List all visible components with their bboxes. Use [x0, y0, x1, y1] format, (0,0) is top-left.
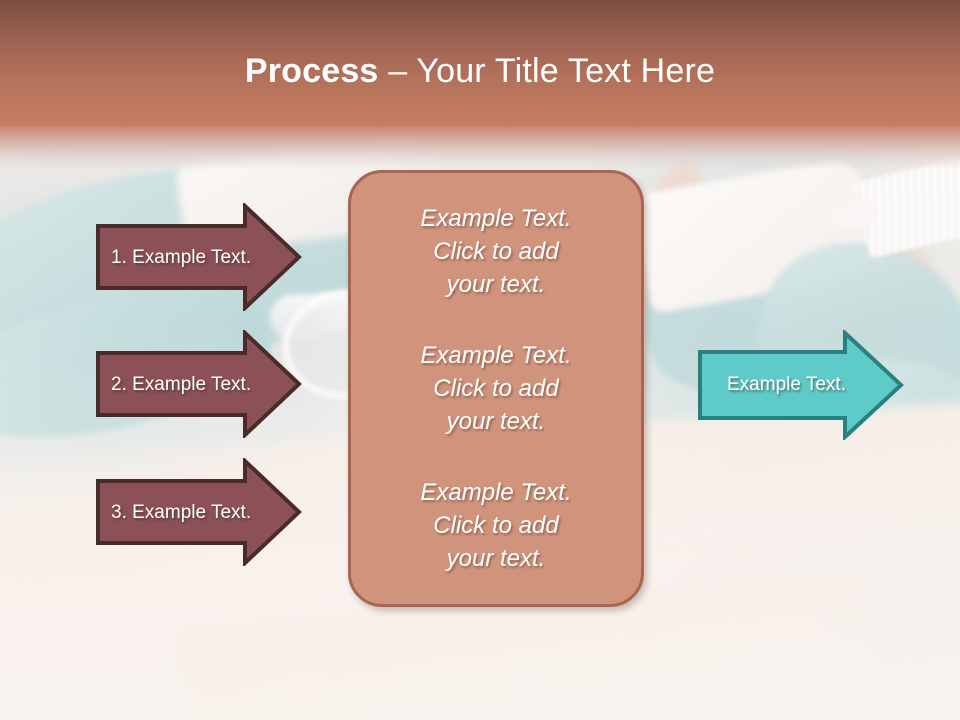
- page-title-rest: – Your Title Text Here: [379, 52, 716, 90]
- page-title: Process – Your Title Text Here: [0, 50, 960, 92]
- output-arrow-label: Example Text.: [727, 374, 846, 396]
- input-arrow-3[interactable]: 3. Example Text.: [95, 458, 303, 566]
- process-content-box[interactable]: Example Text. Click to add your text. Ex…: [348, 170, 644, 607]
- input-arrow-2[interactable]: 2. Example Text.: [95, 330, 303, 438]
- input-arrow-3-label: 3. Example Text.: [111, 502, 251, 524]
- slide-canvas: Process – Your Title Text Here 1. Exampl…: [0, 0, 960, 720]
- input-arrow-2-label: 2. Example Text.: [111, 374, 251, 396]
- process-paragraph-3: Example Text. Click to add your text.: [420, 476, 571, 575]
- input-arrow-1[interactable]: 1. Example Text.: [95, 203, 303, 311]
- output-arrow[interactable]: Example Text.: [697, 330, 905, 440]
- process-paragraph-1: Example Text. Click to add your text.: [420, 202, 571, 301]
- process-paragraph-2: Example Text. Click to add your text.: [420, 339, 571, 438]
- page-title-bold: Process: [245, 52, 379, 90]
- input-arrow-1-label: 1. Example Text.: [111, 247, 251, 269]
- title-band-fade: [0, 126, 960, 170]
